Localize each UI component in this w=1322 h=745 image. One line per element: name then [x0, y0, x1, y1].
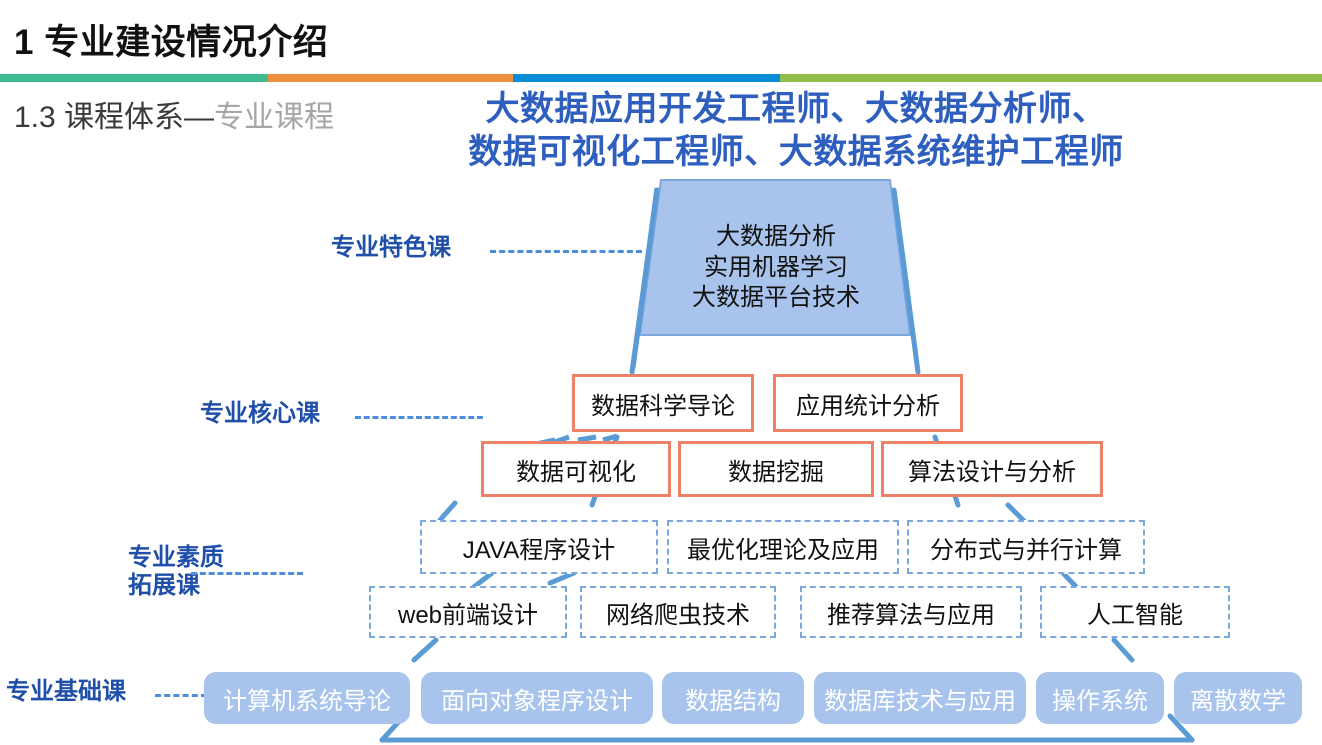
tier-label-core: 专业核心课: [200, 400, 320, 428]
course-pill-base[interactable]: 计算机系统导论: [204, 672, 410, 724]
course-box-core[interactable]: 数据可视化: [481, 441, 671, 497]
apex-course-item: 大数据分析: [640, 222, 912, 253]
tier-dash-feature: [490, 250, 642, 253]
apex-course-item: 大数据平台技术: [640, 283, 912, 314]
course-box-core[interactable]: 数据挖掘: [678, 441, 874, 497]
tier-label-quality-line-1: 专业素质: [128, 544, 224, 572]
slide-canvas: 1 专业建设情况介绍 1.3 课程体系—专业课程 大数据应用开发工程师、大数据分…: [0, 0, 1322, 745]
course-box-quality[interactable]: web前端设计: [369, 586, 567, 638]
course-box-core[interactable]: 算法设计与分析: [881, 441, 1103, 497]
course-pill-base[interactable]: 操作系统: [1036, 672, 1164, 724]
course-box-quality[interactable]: JAVA程序设计: [420, 520, 658, 574]
course-pill-base[interactable]: 数据结构: [662, 672, 804, 724]
course-box-quality[interactable]: 人工智能: [1040, 586, 1230, 638]
course-pill-base[interactable]: 离散数学: [1174, 672, 1302, 724]
course-box-quality[interactable]: 分布式与并行计算: [907, 520, 1145, 574]
course-box-quality[interactable]: 网络爬虫技术: [580, 586, 776, 638]
course-pill-base[interactable]: 数据库技术与应用: [814, 672, 1026, 724]
tier-label-feature: 专业特色课: [331, 234, 451, 262]
apex-course-item: 实用机器学习: [640, 253, 912, 284]
course-box-quality[interactable]: 最优化理论及应用: [667, 520, 899, 574]
tier-label-quality-line-2: 拓展课: [128, 572, 224, 600]
course-box-core[interactable]: 数据科学导论: [572, 374, 754, 432]
apex-course-list: 大数据分析 实用机器学习 大数据平台技术: [640, 222, 912, 314]
tier-dash-quality: [191, 572, 303, 575]
tier-dash-core: [355, 416, 483, 419]
course-box-quality[interactable]: 推荐算法与应用: [800, 586, 1022, 638]
tier-label-base: 专业基础课: [6, 678, 126, 706]
course-pill-base[interactable]: 面向对象程序设计: [421, 672, 653, 724]
tier-dash-base: [155, 694, 207, 697]
course-box-core[interactable]: 应用统计分析: [773, 374, 963, 432]
